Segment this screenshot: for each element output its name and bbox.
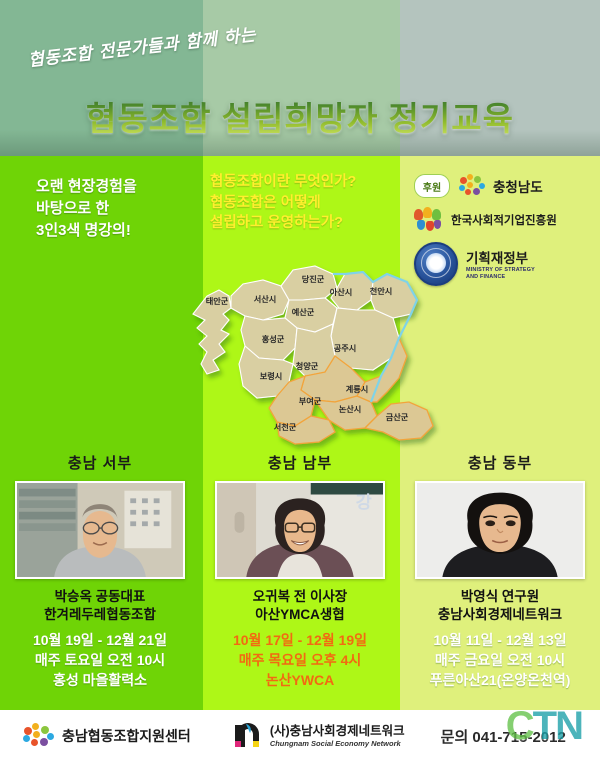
schedule-time-south: 매주 목요일 오후 4시 [200,651,400,671]
schedule-venue-west: 홍성 마을활력소 [0,671,200,691]
schedule-venue-east: 푸른아산21(온양온천역) [400,671,600,691]
sponsor-row-kosea: 한국사회적기업진흥원 [414,207,596,233]
column-heading-west: 충남 서부 [0,452,200,473]
schedule-south: 10월 17일 - 12월 19일 매주 목요일 오후 4시 논산YWCA [200,631,400,690]
sponsor-name-chungnam: 충청남도 [493,176,543,196]
footer-org1-name: 충남협동조합지원센터 [62,726,191,746]
column-heading-east: 충남 동부 [400,452,600,473]
flower-dots-logo-icon [22,723,56,749]
chungnam-map-svg: 당진군서산시태안군아산시천안시예산군홍성군공주시청양군보령시계룡시부여군논산시금… [185,252,455,452]
footer-org-network: (사)충남사회경제네트워크 Chungnam Social Economy Ne… [191,721,405,751]
map-label-1: 서산시 [254,294,277,304]
sponsor-name-mosf: 기획재정부 [466,247,535,267]
sponsor-subtitle-mosf: MINISTRY OF STRATEGYAND FINANCE [466,267,535,281]
map-label-8: 청양군 [296,361,319,371]
speaker-photo-south-image: 강 [217,483,383,577]
speaker-info-west: 박승옥 공동대표 한겨레두레협동조합 [0,588,200,624]
map-label-9: 보령시 [260,371,283,381]
map-label-3: 아산시 [330,287,353,297]
promo-line-2: 바탕으로 한 [36,198,201,220]
poster-root: 협동조합 전문가들과 함께 하는 협동조합 설립희망자 정기교육 오랜 현장경험… [0,0,600,762]
speaker-info-south: 오귀복 전 이사장 아산YMCA생협 [200,588,400,624]
question-line-1: 협동조합이란 무엇인가? [210,172,410,193]
footer-org2-name: (사)충남사회경제네트워크 [270,724,405,738]
speaker-name-east: 박영식 연구원 [400,588,600,606]
schedule-west: 10월 19일 - 12월 21일 매주 토요일 오전 10시 홍성 마을활력소 [0,631,200,690]
speaker-info-east: 박영식 연구원 충남사회경제네트워크 [400,588,600,624]
map-label-0: 당진군 [302,274,325,284]
promo-text-block: 오랜 현장경험을 바탕으로 한 3인3색 명강의! [36,176,201,241]
map-label-7: 공주시 [334,344,357,353]
svg-text:강: 강 [356,492,372,512]
speaker-org-east: 충남사회경제네트워크 [400,606,600,624]
schedule-dates-west: 10월 19일 - 12월 21일 [0,631,200,651]
sponsor-row-chungnam: 후원 충청남도 [414,174,596,198]
map-label-6: 홍성군 [262,334,285,344]
question-line-3: 설립하고 운영하는가? [210,213,410,234]
speaker-photo-west [15,481,185,579]
speaker-name-west: 박승옥 공동대표 [0,588,200,606]
speaker-photo-east-image [417,483,583,577]
schedule-venue-south: 논산YWCA [200,671,400,691]
schedule-dates-south: 10월 17일 - 12월 19일 [200,631,400,651]
schedule-time-west: 매주 토요일 오전 10시 [0,651,200,671]
footer-org-support-center: 충남협동조합지원센터 [0,723,191,749]
cn-network-logo-svg [233,721,263,751]
question-line-2: 협동조합은 어떻게 [210,193,410,214]
support-badge: 후원 [414,174,450,198]
promo-line-3: 3인3색 명강의! [36,220,201,242]
map-label-13: 금산군 [386,412,409,422]
speaker-photo-west-image [17,483,183,577]
question-text-block: 협동조합이란 무엇인가? 협동조합은 어떻게 설립하고 운영하는가? [210,172,410,234]
schedule-time-east: 매주 금요일 오전 10시 [400,651,600,671]
column-west: 충남 서부 [0,452,200,690]
chungnam-map: 당진군서산시태안군아산시천안시예산군홍성군공주시청양군보령시계룡시부여군논산시금… [185,252,455,452]
poster-footer: 충남협동조합지원센터 (사)충남사회경제네트워크 Chungnam Social… [0,710,600,762]
map-label-5: 예산군 [292,307,315,317]
schedule-east: 10월 11일 - 12월 13일 매주 금요일 오전 10시 푸른아산21(온… [400,631,600,690]
map-label-10: 계룡시 [346,384,369,394]
schedule-dates-east: 10월 11일 - 12월 13일 [400,631,600,651]
speaker-name-south: 오귀복 전 이사장 [200,588,400,606]
poster-header: 협동조합 전문가들과 함께 하는 협동조합 설립희망자 정기교육 [0,0,600,156]
column-east: 충남 동부 박영식 연구원 충남사회경제네트워크 10월 11일 - 12월 1… [400,452,600,690]
map-label-11: 부여군 [299,396,322,406]
kosea-logo-icon [414,207,444,233]
map-label-4: 천안시 [370,286,393,296]
column-south: 충남 남부 강 오귀복 전 이사 [200,452,400,690]
cn-network-logo-icon [233,721,263,751]
footer-org2-subtitle: Chungnam Social Economy Network [270,739,405,748]
column-heading-south: 충남 남부 [200,452,400,473]
speaker-photo-south: 강 [215,481,385,579]
contact-phone[interactable]: 문의 041-715-2012 [441,726,566,747]
map-label-2: 태안군 [206,296,229,306]
flower-dots-logo-icon [458,174,486,198]
map-label-12: 논산시 [339,404,362,414]
promo-line-1: 오랜 현장경험을 [36,176,201,198]
sponsor-name-kosea: 한국사회적기업진흥원 [451,212,557,228]
speaker-org-south: 아산YMCA생협 [200,606,400,624]
map-label-14: 서천군 [274,422,297,432]
speaker-org-west: 한겨레두레협동조합 [0,606,200,624]
page-title: 협동조합 설립희망자 정기교육 [0,92,600,140]
speaker-photo-east [415,481,585,579]
